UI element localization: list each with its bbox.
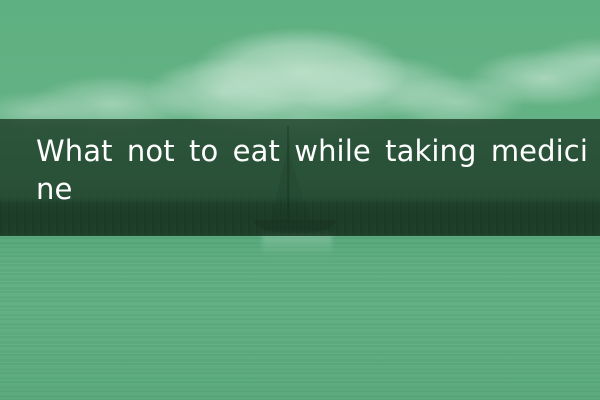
water-surface bbox=[0, 236, 600, 400]
headline-text: What not to eat while taking medicine bbox=[36, 132, 588, 208]
article-thumbnail-card[interactable]: What not to eat while taking medicine bbox=[0, 0, 600, 400]
water-reflection bbox=[262, 233, 332, 257]
caption-banner: What not to eat while taking medicine bbox=[0, 119, 600, 236]
